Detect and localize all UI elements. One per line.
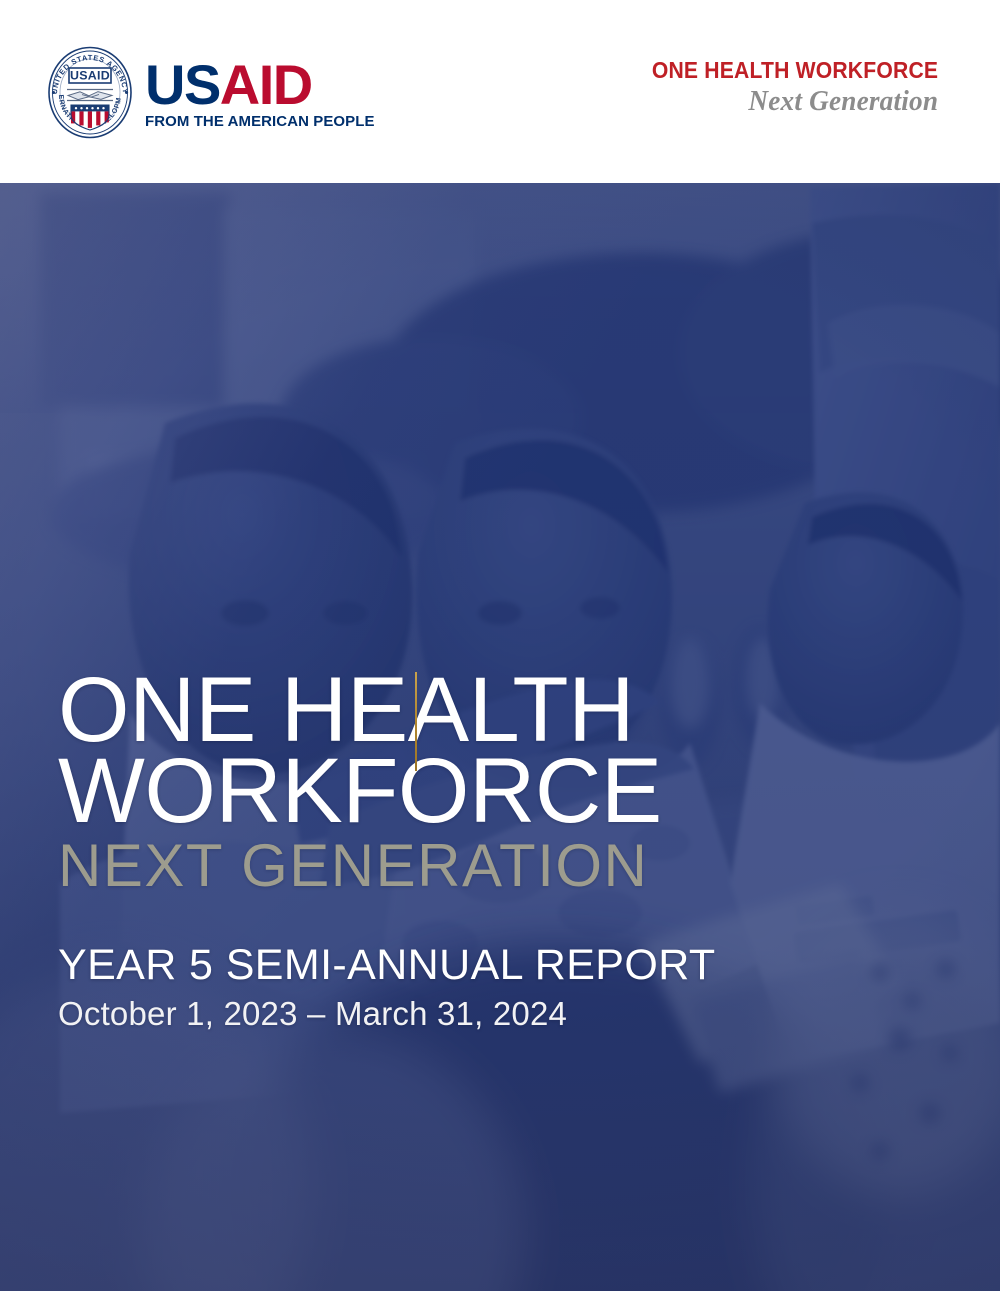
cover-title-subtitle: NEXT GENERATION [58,836,938,896]
ohw-brand-title: ONE HEALTH WORKFORCE [652,57,938,84]
usaid-wordmark-us: US [145,53,220,116]
report-date-range: October 1, 2023 – March 31, 2024 [58,997,938,1032]
ohw-brand-lockup: ONE HEALTH WORKFORCE Next Generation [620,57,938,118]
usaid-wordmark-text: USAID [145,59,312,111]
cover-title-block: ONE HEALTH WORKFORCE NEXT GENERATION [58,670,938,896]
cover-title-line-1: ONE HEALTH [58,670,938,751]
cover-report-block: YEAR 5 SEMI-ANNUAL REPORT October 1, 202… [58,943,938,1032]
cover-title-line-2: WORKFORCE [58,751,938,832]
report-cover-page: UNITED STATES AGENCY INTERNATIONAL DEVEL… [0,0,1000,1291]
gold-accent-rule [415,672,417,771]
report-heading: YEAR 5 SEMI-ANNUAL REPORT [58,943,938,988]
usaid-logo-lockup: UNITED STATES AGENCY INTERNATIONAL DEVEL… [44,45,378,140]
usaid-seal-icon: UNITED STATES AGENCY INTERNATIONAL DEVEL… [44,45,136,140]
usaid-wordmark-aid: AID [220,53,312,116]
svg-text:USAID: USAID [70,69,110,83]
ohw-brand-subtitle: Next Generation [639,85,938,118]
cover-header-band: UNITED STATES AGENCY INTERNATIONAL DEVEL… [0,0,1000,183]
usaid-wordmark: USAID FROM THE AMERICAN PEOPLE [145,55,378,130]
usaid-tagline: FROM THE AMERICAN PEOPLE [145,113,375,130]
cover-photograph: ONE HEALTH WORKFORCE NEXT GENERATION YEA… [0,183,1000,1291]
